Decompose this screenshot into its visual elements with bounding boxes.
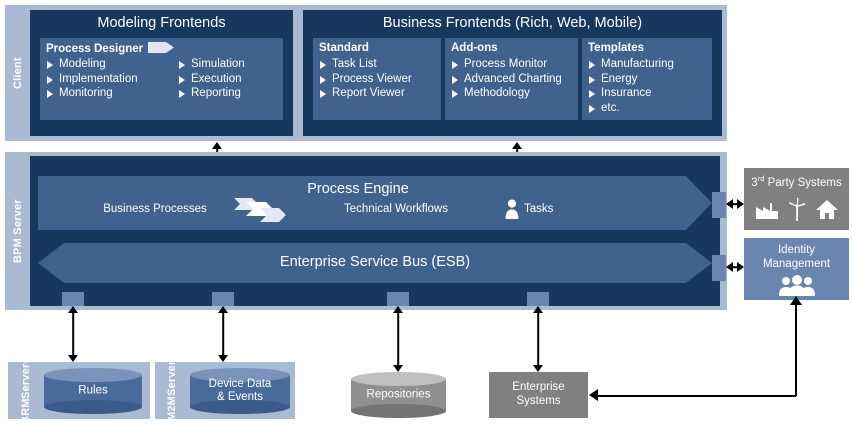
esb-title: Enterprise Service Bus (ESB) xyxy=(38,254,712,270)
identity-to-enterprise-arrowhead xyxy=(589,389,598,401)
process-designer-heading: Process Designer xyxy=(46,43,143,55)
arrow-bpm-to-brm xyxy=(66,306,80,362)
identity-to-enterprise-line-horizontal xyxy=(597,395,796,397)
third-party-icons xyxy=(744,196,849,226)
list-item[interactable]: Simulation xyxy=(178,57,278,72)
list-item[interactable]: Process Monitor xyxy=(451,57,576,72)
brm-label-line2: Servers xyxy=(21,357,33,399)
connector-tab-m2m xyxy=(212,292,234,306)
workflow-arrows-icon xyxy=(232,196,288,229)
process-engine-title: Process Engine xyxy=(38,181,678,197)
arrow-bpm-to-enterprise xyxy=(531,306,545,372)
process-designer-left-list: Modeling Implementation Monitoring xyxy=(46,57,161,101)
arrow-bpm-to-third-party xyxy=(726,196,744,212)
process-engine-center-label: Technical Workflows xyxy=(296,203,496,215)
modeling-frontends-title: Modeling Frontends xyxy=(30,15,293,33)
identity-management-line2: Management xyxy=(744,257,849,271)
bpm-server-side-label: BPM Server xyxy=(8,152,30,310)
house-icon xyxy=(815,198,839,225)
arrow-bpm-to-m2m xyxy=(216,306,230,362)
rules-cylinder[interactable]: Rules xyxy=(44,368,142,414)
identity-line-arrowhead-up xyxy=(790,296,802,305)
device-data-cylinder[interactable]: Device Data & Events xyxy=(190,368,290,414)
list-item[interactable]: Energy xyxy=(588,72,712,87)
connector-tab-brm xyxy=(62,292,84,306)
process-designer-right-list: Simulation Execution Reporting xyxy=(178,57,278,101)
process-engine-left-label: Business Processes xyxy=(70,203,240,215)
list-item[interactable]: Insurance xyxy=(588,86,712,101)
list-item[interactable]: Execution xyxy=(178,72,278,87)
identity-to-enterprise-line-vertical xyxy=(795,300,797,396)
brm-label-line1: BRM xyxy=(21,399,33,425)
m2m-label-line1: M2M xyxy=(167,396,179,421)
list-item[interactable]: Task List xyxy=(319,57,439,72)
list-item[interactable]: Advanced Charting xyxy=(451,72,576,87)
connector-tab-third-party xyxy=(712,192,726,218)
factory-icon xyxy=(755,198,779,225)
connector-tab-enterprise xyxy=(527,292,549,306)
flag-arrow-icon xyxy=(148,40,174,58)
m2m-label-line2: Server xyxy=(167,360,179,395)
device-data-line1: Device Data xyxy=(190,378,290,391)
enterprise-systems-line2: Systems xyxy=(489,394,588,408)
connector-tab-identity xyxy=(712,255,726,281)
list-item[interactable]: Monitoring xyxy=(46,86,161,101)
addons-group-list: Process Monitor Advanced Charting Method… xyxy=(451,57,576,101)
cylinder-bottom xyxy=(351,404,446,418)
cylinder-bottom xyxy=(44,400,142,414)
repositories-label: Repositories xyxy=(351,389,446,402)
brm-servers-side-label: BRM Servers xyxy=(12,362,42,419)
enterprise-systems-line1: Enterprise xyxy=(489,380,588,394)
arrow-bpm-to-identity xyxy=(726,259,744,275)
list-item[interactable]: etc. xyxy=(588,101,712,116)
standard-group-list: Task List Process Viewer Report Viewer xyxy=(319,57,439,101)
arrow-bpm-to-repositories xyxy=(391,306,405,372)
standard-group-heading: Standard xyxy=(319,42,369,54)
list-item[interactable]: Modeling xyxy=(46,57,161,72)
connector-tab-repositories xyxy=(387,292,409,306)
cylinder-top xyxy=(351,372,446,386)
wind-turbine-icon xyxy=(786,197,808,226)
identity-management-line1: Identity xyxy=(744,243,849,257)
list-item[interactable]: Process Viewer xyxy=(319,72,439,87)
third-party-rest: Party Systems xyxy=(764,177,841,189)
business-frontends-title: Business Frontends (Rich, Web, Mobile) xyxy=(303,15,722,33)
cylinder-top xyxy=(44,368,142,382)
addons-group-heading: Add-ons xyxy=(451,42,498,54)
process-engine-right-label: Tasks xyxy=(524,203,553,215)
client-side-label: Client xyxy=(8,5,30,141)
person-icon xyxy=(504,199,520,224)
repositories-cylinder[interactable]: Repositories xyxy=(351,372,446,418)
list-item[interactable]: Implementation xyxy=(46,72,161,87)
list-item[interactable]: Reporting xyxy=(178,86,278,101)
list-item[interactable]: Methodology xyxy=(451,86,576,101)
rules-cylinder-label: Rules xyxy=(44,385,142,398)
third-party-systems-title: 3rd Party Systems xyxy=(744,172,849,190)
device-data-line2: & Events xyxy=(190,391,290,404)
m2m-server-side-label: M2M Server xyxy=(158,362,188,419)
process-designer-heading-wrap: Process Designer xyxy=(46,41,206,57)
list-item[interactable]: Report Viewer xyxy=(319,86,439,101)
templates-group-heading: Templates xyxy=(588,42,644,54)
people-group-icon xyxy=(744,274,849,298)
device-data-cylinder-label: Device Data & Events xyxy=(190,378,290,404)
list-item[interactable]: Manufacturing xyxy=(588,57,712,72)
templates-group-list: Manufacturing Energy Insurance etc. xyxy=(588,57,712,115)
